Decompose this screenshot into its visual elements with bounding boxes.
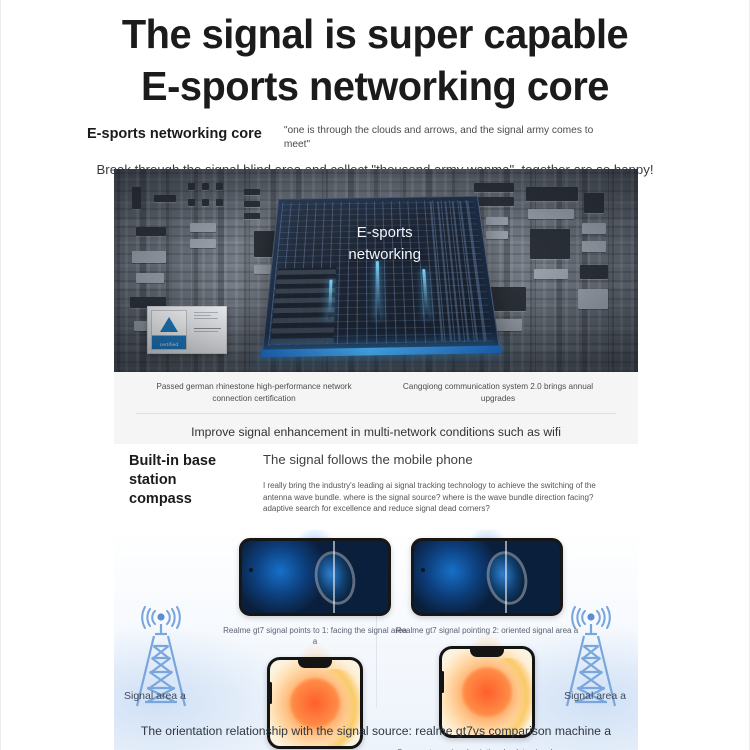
page-title: The signal is super capable E-sports net… xyxy=(1,0,749,112)
intro-row: E-sports networking core "one is through… xyxy=(1,124,749,152)
chip-caption-2: Cangqiong communication system 2.0 bring… xyxy=(376,381,620,404)
signal-area-label-left: Signal area a xyxy=(124,690,186,702)
compass-section: Built-in base station compass The signal… xyxy=(1,452,749,515)
compass-heading: The signal follows the mobile phone xyxy=(263,452,623,467)
image-vignette xyxy=(114,169,638,372)
comparison-column-1: Realme gt7 signal points to 1: facing th… xyxy=(220,538,410,750)
poster-page: The signal is super capable E-sports net… xyxy=(0,0,750,750)
signal-comparison-panel: Signal area a Signal area a xyxy=(114,530,638,750)
signal-footer-text: The orientation relationship with the si… xyxy=(114,724,638,738)
headline-line-1: The signal is super capable xyxy=(12,0,738,60)
intro-quote: "one is through the clouds and arrows, a… xyxy=(284,124,614,152)
comparison-column-2: Realme gt7 signal pointing 2: oriented s… xyxy=(392,538,582,750)
chip-hero-image: E-sports networking certified xyxy=(114,169,638,372)
chip-caption-1: Passed german rhinestone high-performanc… xyxy=(132,381,376,404)
compass-body-text: I really bring the industry's leading ai… xyxy=(263,480,623,515)
phone-landscape-realme xyxy=(239,538,391,616)
intro-strong-label: E-sports networking core xyxy=(87,124,262,142)
phone-landscape-realme xyxy=(411,538,563,616)
chip-section-panel: E-sports networking certified Passed ger… xyxy=(114,169,638,444)
compass-strong-label: Built-in base station compass xyxy=(129,452,241,515)
chip-caption-row: Passed german rhinestone high-performanc… xyxy=(114,372,638,404)
headline-line-2: E-sports networking core xyxy=(12,60,738,112)
chip-footer-text: Improve signal enhancement in multi-netw… xyxy=(114,414,638,439)
